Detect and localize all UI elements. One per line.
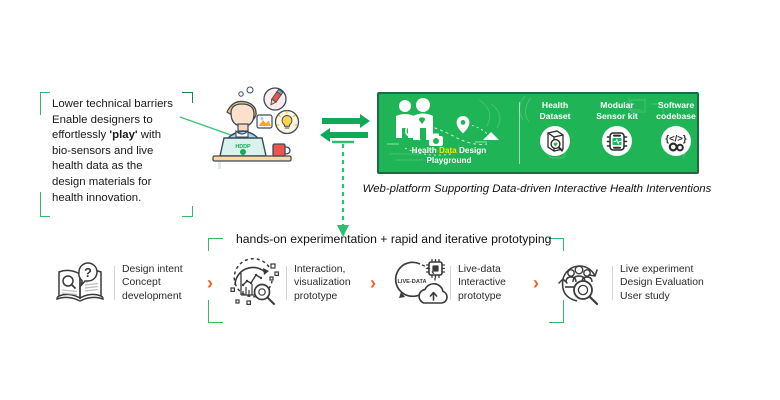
live-data-cloud-chip-icon: LIVE-DATA (388, 254, 448, 312)
dataset-magnifier-icon (526, 125, 584, 157)
diagram-canvas: Lower technical barriers Enable designer… (0, 0, 780, 400)
svg-text:?: ? (84, 265, 92, 280)
platform-feature-software-codebase: Software codebase {</>} (647, 100, 699, 157)
bracket-bottom-left (40, 192, 50, 217)
designer-illustration: HDDP (205, 86, 315, 176)
pipeline-chevron-1: › (207, 274, 213, 292)
chart-magnifier-icon (224, 254, 284, 312)
down-dashed-arrow (330, 140, 356, 240)
bracket-bottom-right (182, 206, 193, 217)
statement-text: Lower technical barriers Enable designer… (52, 97, 198, 206)
statement-emphasis: 'play' (109, 129, 137, 141)
stage-separator (612, 266, 613, 300)
users-magnifier-cycle-icon (550, 254, 610, 312)
svg-text:{</>}: {</>} (665, 134, 686, 145)
pipeline-chevron-3: › (533, 274, 539, 292)
stage-label: Live-data Interactive prototype (458, 263, 506, 303)
pipeline-stage-design-intent[interactable]: ? Design intent Concept development (52, 250, 183, 316)
stage-separator (286, 266, 287, 300)
stage-label: Interaction, visualization prototype (294, 263, 351, 303)
stage-separator (114, 266, 115, 300)
pipeline-stage-live-data-prototype[interactable]: LIVE-DATA Live-data Interactive prototyp… (388, 250, 506, 316)
stage-label: Live experiment Design Evaluation User s… (620, 263, 704, 303)
platform-feature-sensor-kit: Modular Sensor kit (588, 100, 646, 157)
platform-title: Health Data DesignPlayground (383, 146, 515, 166)
platform-panel: Health Data DesignPlayground Health Data… (377, 92, 699, 174)
pipeline-row: ? Design intent Concept development › (52, 250, 752, 316)
sensor-chip-icon (588, 125, 646, 157)
platform-title-highlight: Data (439, 146, 457, 155)
statement-box: Lower technical barriers Enable designer… (40, 92, 192, 216)
stage-separator (450, 266, 451, 300)
svg-text:LIVE-DATA: LIVE-DATA (397, 279, 426, 285)
feature-label: Health Dataset (526, 100, 584, 121)
feature-label: Modular Sensor kit (588, 100, 646, 121)
pipeline-chevron-2: › (370, 274, 376, 292)
feature-label: Software codebase (647, 100, 699, 121)
pipeline-stage-interaction-visualization[interactable]: Interaction, visualization prototype (224, 250, 351, 316)
code-gears-icon: {</>} (647, 125, 699, 157)
stage-label: Design intent Concept development (122, 263, 183, 303)
platform-caption: Web-platform Supporting Data-driven Inte… (362, 183, 712, 195)
open-book-question-icon: ? (52, 254, 112, 312)
pipeline-header: hands-on experimentation + rapid and ite… (236, 232, 556, 246)
bracket-top-left (40, 92, 50, 115)
platform-divider (519, 102, 520, 164)
pipeline-stage-live-experiment[interactable]: Live experiment Design Evaluation User s… (550, 250, 704, 316)
platform-feature-health-dataset: Health Dataset (526, 100, 584, 157)
